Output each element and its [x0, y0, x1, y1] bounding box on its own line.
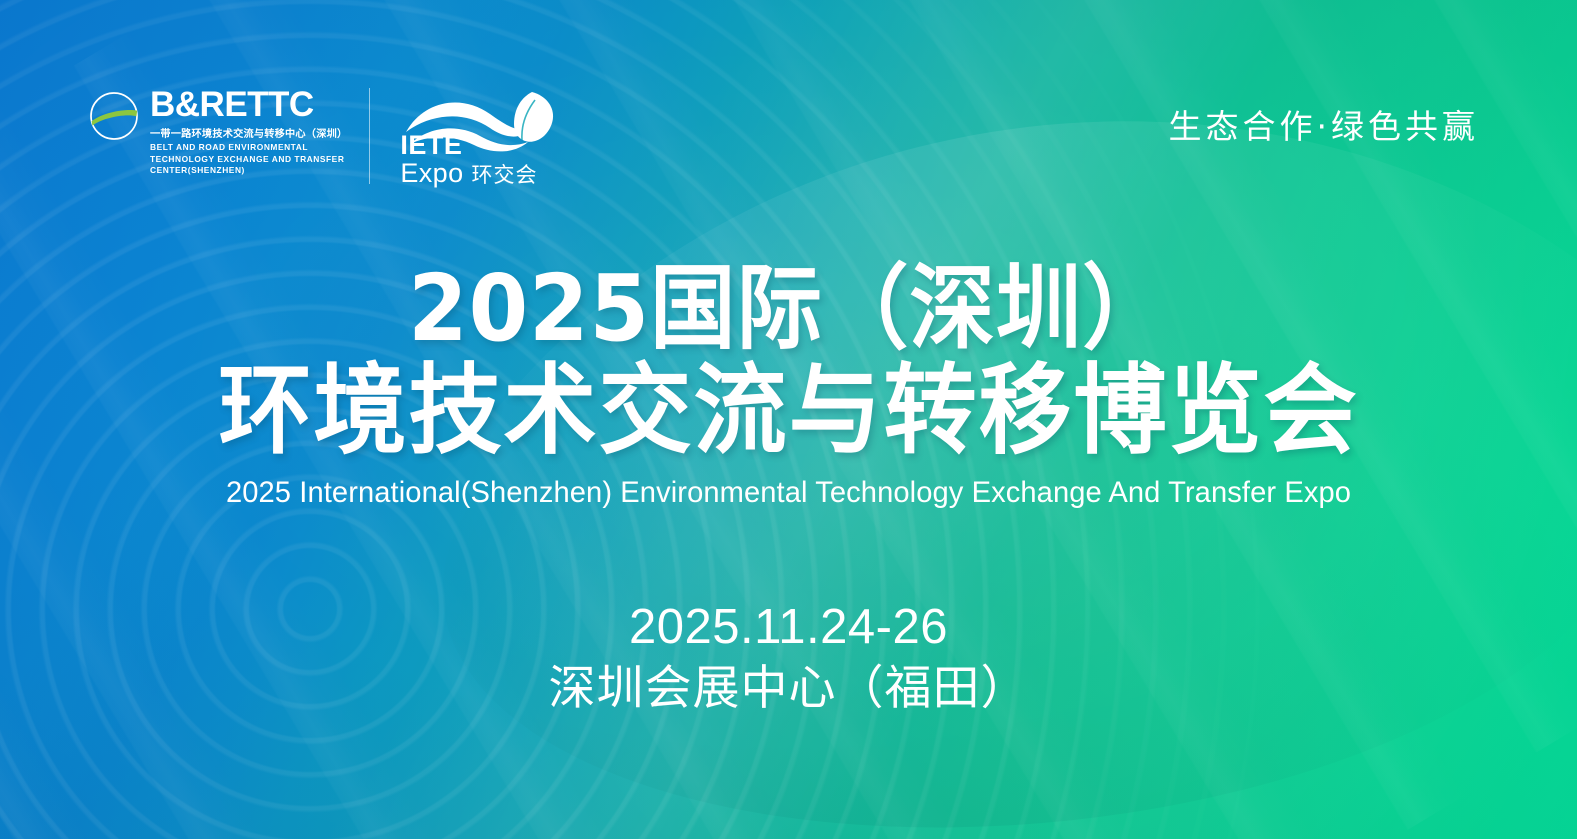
iete-text-block: IETE Expo 环交会	[400, 132, 537, 187]
brettc-name-en: BELT AND ROAD ENVIRONMENTAL TECHNOLOGY E…	[150, 142, 347, 176]
banner-header: B&RETTC 一带一路环境技术交流与转移中心（深圳） BELT AND ROA…	[0, 0, 1577, 230]
iete-expo-logo: IETE Expo 环交会	[398, 88, 570, 192]
title-block: 2025国际（深圳） 环境技术交流与转移博览会 2025 Internation…	[0, 262, 1577, 510]
iete-expo-cn: 环交会	[472, 165, 538, 186]
brettc-acronym: B&RETTC	[150, 88, 347, 121]
brettc-name-en-line3: CENTER(SHENZHEN)	[150, 165, 347, 176]
event-date: 2025.11.24-26	[0, 600, 1577, 655]
title-line-2: 环境技术交流与转移博览会	[39, 362, 1537, 462]
brettc-name-en-line1: BELT AND ROAD ENVIRONMENTAL	[150, 142, 347, 153]
banner-slogan: 生态合作·绿色共赢	[1169, 100, 1480, 148]
title-line-1: 2025国际（深圳）	[55, 262, 1522, 356]
brettc-name-cn: 一带一路环境技术交流与转移中心（深圳）	[150, 125, 347, 140]
iete-expo-word: Expo	[400, 160, 463, 187]
brettc-logo: B&RETTC 一带一路环境技术交流与转移中心（深圳） BELT AND ROA…	[88, 88, 370, 184]
globe-orbit-icon	[88, 90, 140, 142]
iete-subline: Expo 环交会	[400, 160, 537, 187]
event-info-block: 2025.11.24-26 深圳会展中心（福田）	[0, 600, 1577, 717]
event-venue: 深圳会展中心（福田）	[0, 661, 1577, 717]
logo-group: B&RETTC 一带一路环境技术交流与转移中心（深圳） BELT AND ROA…	[88, 88, 570, 192]
brettc-text-block: B&RETTC 一带一路环境技术交流与转移中心（深圳） BELT AND ROA…	[150, 88, 347, 176]
title-english: 2025 International(Shenzhen) Environment…	[24, 476, 1554, 510]
brettc-name-en-line2: TECHNOLOGY EXCHANGE AND TRANSFER	[150, 154, 347, 165]
iete-acronym: IETE	[400, 132, 537, 159]
event-banner: B&RETTC 一带一路环境技术交流与转移中心（深圳） BELT AND ROA…	[0, 0, 1577, 839]
